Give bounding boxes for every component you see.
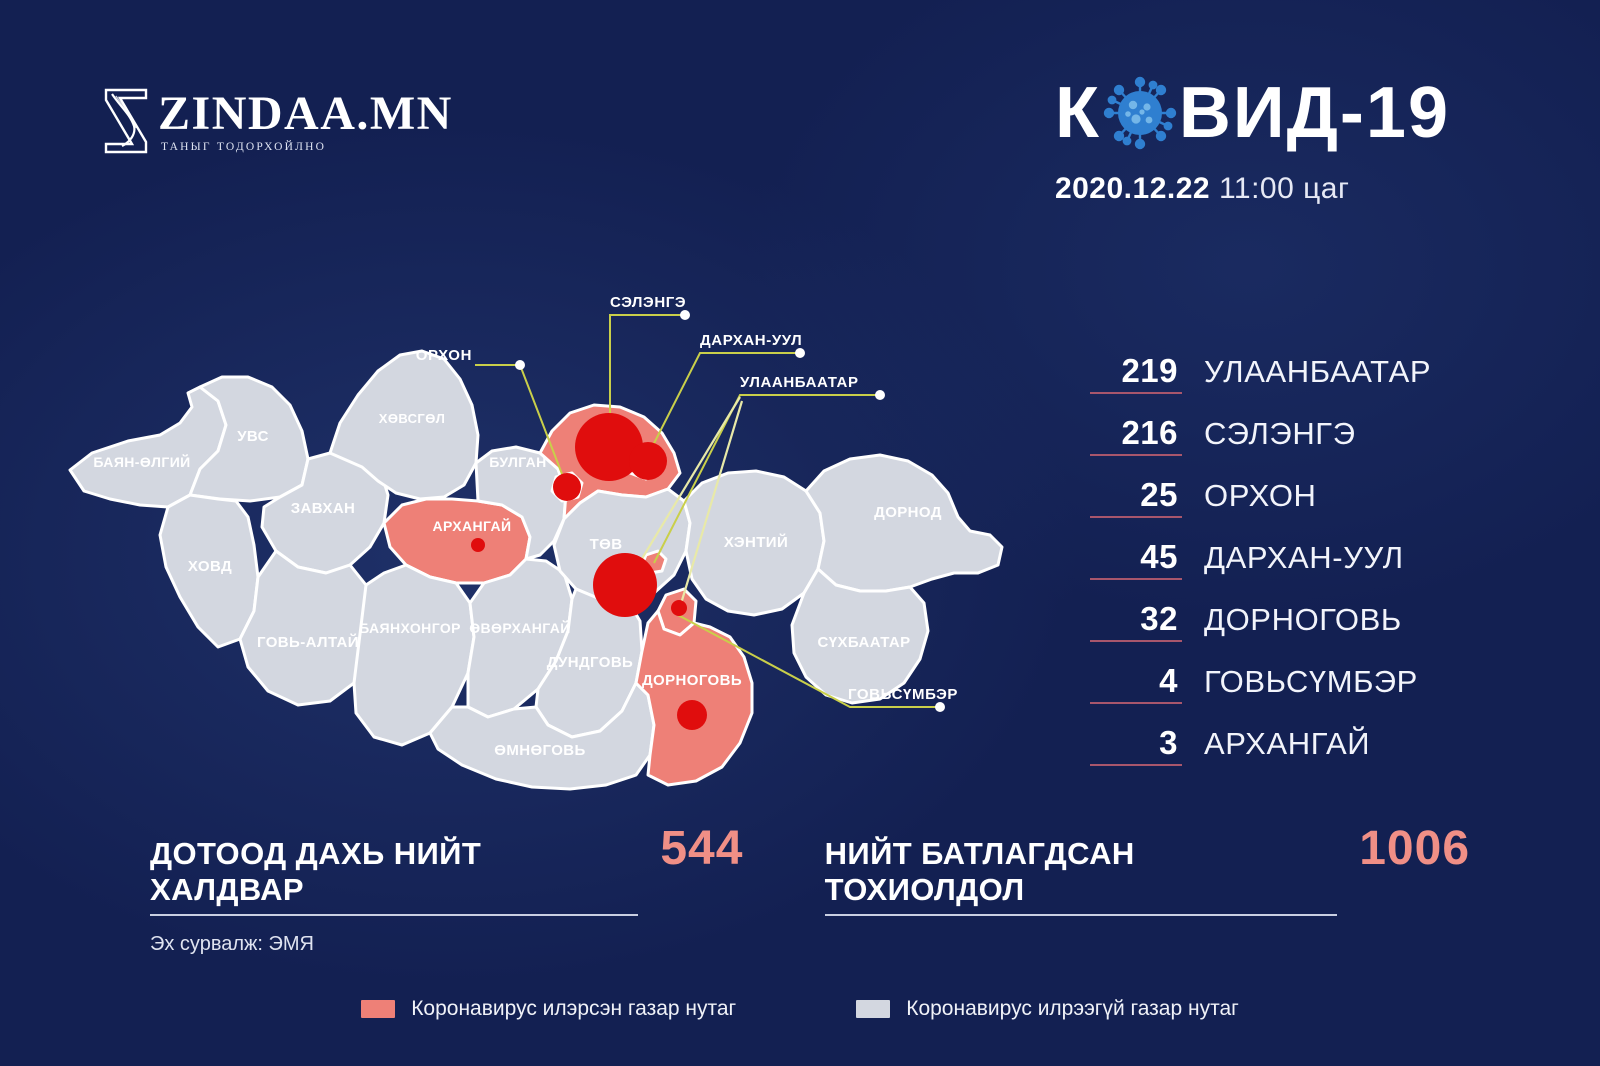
brand-name: ZINDAA.MN: [158, 90, 453, 138]
province-name: ГОВЬСҮМБЭР: [1204, 664, 1418, 700]
list-item: 4 ГОВЬСҮМБЭР: [1090, 662, 1470, 704]
list-item: 32 ДОРНОГОВЬ: [1090, 600, 1470, 642]
province-label-govi-altai: ГОВЬ-АЛТАЙ: [257, 633, 359, 651]
callout-label-selenge: СЭЛЭНГЭ: [610, 294, 686, 311]
callout-label-ulaanbaatar: УЛААНБААТАР: [740, 374, 859, 391]
brand-logo[interactable]: ZINDAA.MN ТАНЫГ ТОДОРХОЙЛНО: [100, 84, 453, 158]
province-name: СЭЛЭНГЭ: [1204, 416, 1356, 452]
province-name: ОРХОН: [1204, 478, 1317, 514]
province-label-dundgovi: ДУНДГОВЬ: [547, 654, 634, 671]
case-count: 219: [1090, 352, 1182, 394]
brand-tagline: ТАНЫГ ТОДОРХОЙЛНО: [161, 141, 453, 153]
case-dot-darkhan-uul: [629, 442, 667, 480]
total-domestic-value: 544: [660, 821, 743, 876]
province-label-sukhbaatar: СҮХБААТАР: [818, 634, 911, 651]
total-domestic: ДОТООД ДАХЬ НИЙТ ХАЛДВАР 544: [150, 821, 743, 916]
province-label-umnugovi: ӨМНӨГОВЬ: [494, 742, 585, 759]
source-note: Эх сурвалж: ЭМЯ: [150, 933, 314, 956]
province-label-uvurkhangai: ӨВӨРХАНГАЙ: [469, 619, 570, 636]
case-dot-ulaanbaatar: [593, 553, 657, 617]
province-label-bayan-olgii: БАЯН-ӨЛГИЙ: [93, 453, 190, 470]
title-prefix: К: [1055, 77, 1101, 149]
zindaa-monogram-icon: [100, 84, 152, 158]
legend-item-infected: Коронавирус илэрсэн газар нутаг: [361, 997, 736, 1021]
case-count: 3: [1090, 724, 1182, 766]
legend-swatch-infected-icon: [361, 1000, 395, 1018]
list-item: 3 АРХАНГАЙ: [1090, 724, 1470, 766]
list-item: 45 ДАРХАН-УУЛ: [1090, 538, 1470, 580]
total-confirmed-value: 1006: [1359, 821, 1470, 876]
province-dornogovi[interactable]: [636, 611, 752, 785]
list-item: 216 СЭЛЭНГЭ: [1090, 414, 1470, 456]
coronavirus-icon: [1103, 76, 1177, 150]
total-domestic-label: ДОТООД ДАХЬ НИЙТ ХАЛДВАР: [150, 836, 638, 916]
province-dornod[interactable]: [806, 455, 1002, 591]
map-svg: БАЯН-ӨЛГИЙ УВС ХОВД ЗАВХАН ГОВЬ-АЛТАЙ ХӨ…: [40, 255, 1100, 825]
province-label-khuvsgul: ХӨВСГӨЛ: [379, 411, 445, 426]
report-date: 2020.12.22: [1055, 172, 1210, 205]
callout-label-govisumber: ГОВЬСҮМБЭР: [848, 686, 958, 703]
case-dot-arkhangai: [471, 538, 485, 552]
province-label-uvs: УВС: [237, 428, 269, 445]
callout-label-darkhan-uul: ДАРХАН-УУЛ: [700, 332, 802, 349]
province-name: АРХАНГАЙ: [1204, 726, 1370, 762]
total-confirmed-label: НИЙТ БАТЛАГДСАН ТОХИОЛДОЛ: [825, 836, 1338, 916]
case-count: 45: [1090, 538, 1182, 580]
legend-label-clear: Коронавирус илрээгүй газар нутаг: [906, 997, 1239, 1021]
case-count: 4: [1090, 662, 1182, 704]
total-confirmed: НИЙТ БАТЛАГДСАН ТОХИОЛДОЛ 1006: [825, 821, 1470, 916]
province-label-tuv: ТӨВ: [590, 536, 623, 553]
province-label-dornogovi: ДОРНОГОВЬ: [642, 672, 742, 689]
page-title: К: [1055, 76, 1450, 150]
province-label-khentii: ХЭНТИЙ: [724, 533, 788, 551]
province-name: ДОРНОГОВЬ: [1204, 602, 1402, 638]
province-label-bulgan: БУЛГАН: [489, 454, 546, 470]
province-case-list: 219 УЛААНБААТАР 216 СЭЛЭНГЭ 25 ОРХОН 45 …: [1090, 352, 1470, 786]
province-label-arkhangai: АРХАНГАЙ: [433, 517, 512, 534]
case-count: 32: [1090, 600, 1182, 642]
province-label-bayankhongor: БАЯНХОНГОР: [359, 620, 461, 636]
case-count: 216: [1090, 414, 1182, 456]
report-time: 11:00 цаг: [1219, 172, 1350, 205]
report-datetime: 2020.12.22 11:00 цаг: [1055, 172, 1450, 206]
case-count: 25: [1090, 476, 1182, 518]
legend-swatch-clear-icon: [856, 1000, 890, 1018]
province-name: УЛААНБААТАР: [1204, 354, 1431, 390]
case-dot-dornogovi: [677, 700, 707, 730]
totals-bar: ДОТООД ДАХЬ НИЙТ ХАЛДВАР 544 НИЙТ БАТЛАГ…: [150, 821, 1470, 916]
mongolia-map[interactable]: БАЯН-ӨЛГИЙ УВС ХОВД ЗАВХАН ГОВЬ-АЛТАЙ ХӨ…: [40, 255, 1100, 825]
province-label-zavkhan: ЗАВХАН: [291, 500, 356, 517]
map-legend: Коронавирус илэрсэн газар нутаг Коронави…: [0, 997, 1600, 1021]
legend-item-clear: Коронавирус илрээгүй газар нутаг: [856, 997, 1239, 1021]
legend-label-infected: Коронавирус илэрсэн газар нутаг: [411, 997, 736, 1021]
province-label-khovd: ХОВД: [188, 558, 232, 575]
province-label-dornod: ДОРНОД: [874, 504, 942, 521]
list-item: 25 ОРХОН: [1090, 476, 1470, 518]
province-name: ДАРХАН-УУЛ: [1204, 540, 1404, 576]
list-item: 219 УЛААНБААТАР: [1090, 352, 1470, 394]
header-title-block: К: [1055, 76, 1450, 206]
callout-label-orkhon: ОРХОН: [416, 347, 472, 364]
case-dot-orkhon: [553, 473, 581, 501]
title-suffix: ВИД-19: [1179, 77, 1450, 149]
case-dot-govisumber: [671, 600, 687, 616]
